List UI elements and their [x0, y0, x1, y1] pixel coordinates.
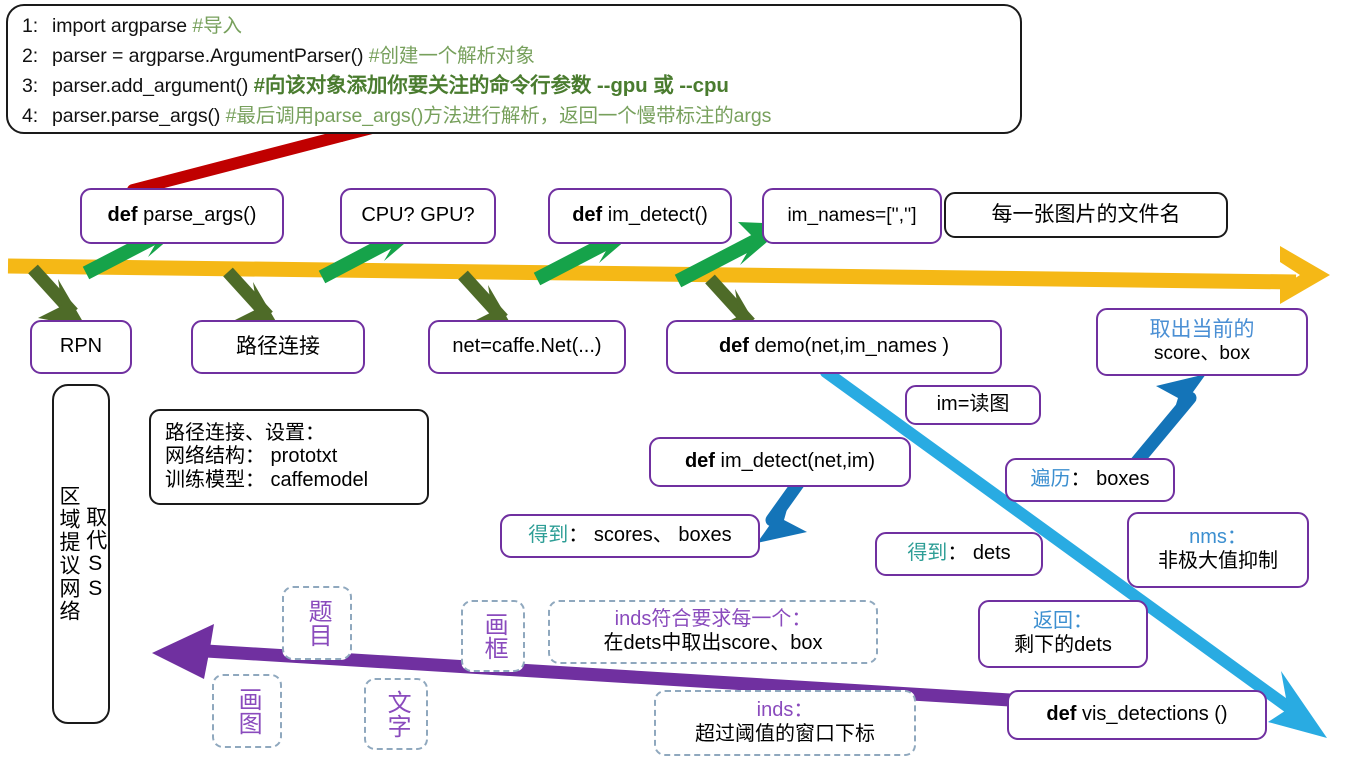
line-number: 4:	[22, 102, 52, 132]
node-vis-detections[interactable]: def vis_detections ()	[1007, 690, 1267, 740]
traverse-value: ： boxes	[1071, 468, 1150, 490]
dashed-title-label: 题目	[303, 599, 331, 647]
node-demo[interactable]: def demo(net,im_names )	[666, 320, 1002, 374]
line-number: 3:	[22, 72, 52, 102]
node-parse-args[interactable]: def parse_args()	[80, 188, 284, 244]
settings-line-1: 路径连接、设置：	[165, 422, 325, 446]
timeline-arrow-yellow	[8, 246, 1330, 304]
return-line1: 返回：	[1033, 610, 1093, 634]
node-settings-note: 路径连接、设置： 网络结构： prototxt 训练模型： caffemodel	[149, 409, 429, 505]
node-im-read[interactable]: im=读图	[905, 385, 1041, 425]
node-return-remaining-dets[interactable]: 返回： 剩下的dets	[978, 600, 1148, 668]
node-label: CPU? GPU?	[361, 204, 474, 226]
dashed-text-label: 文字	[382, 690, 410, 738]
traverse-label: 遍历	[1031, 468, 1071, 490]
settings-line-2: 网络结构： prototxt	[165, 445, 337, 469]
node-nms[interactable]: nms： 非极大值抑制	[1127, 512, 1309, 588]
return-line2: 剩下的dets	[1014, 634, 1112, 658]
node-dashed-title: 题目	[282, 586, 352, 660]
code-text: import argparse	[52, 15, 187, 37]
dashed-draw-pic-label: 画图	[233, 687, 261, 735]
code-line-3: 3:parser.add_argument() #向该对象添加你要关注的命令行参…	[22, 71, 1006, 102]
note-label: 每一张图片的文件名	[992, 203, 1181, 228]
nms-line2: 非极大值抑制	[1158, 550, 1278, 574]
rpn-expansion-line2: 取代SS	[82, 506, 107, 602]
im-read-label: im=读图	[937, 393, 1010, 417]
code-comment: #创建一个解析对象	[369, 45, 535, 67]
node-label: net=caffe.Net(...)	[452, 335, 601, 357]
node-dashed-inds-each: inds符合要求每一个： 在dets中取出score、box	[548, 600, 878, 664]
diagram-canvas: 1:import argparse #导入 2:parser = argpars…	[0, 0, 1366, 768]
node-label: im_names=['','']	[787, 205, 916, 226]
node-rpn[interactable]: RPN	[30, 320, 132, 374]
code-line-1: 1:import argparse #导入	[22, 12, 1006, 42]
node-label: 路径连接	[236, 335, 320, 358]
node-label: im_detect(net,im)	[715, 450, 875, 472]
get-label: 得到	[907, 542, 947, 564]
inds-def-line1: inds：	[757, 699, 814, 723]
keyword-def: def	[572, 204, 602, 226]
node-im-names[interactable]: im_names=['','']	[762, 188, 942, 244]
nms-line1: nms：	[1189, 526, 1247, 550]
settings-line-3: 训练模型： caffemodel	[165, 469, 368, 493]
inds-each-line1: inds符合要求每一个：	[615, 608, 812, 632]
node-dashed-draw-pic: 画图	[212, 674, 282, 748]
rpn-expansion-line1: 区域提议网络	[55, 485, 80, 623]
node-dashed-inds-def: inds： 超过阈值的窗口下标	[654, 690, 916, 756]
line-number: 2:	[22, 42, 52, 72]
node-label: demo(net,im_names )	[749, 335, 949, 357]
node-get-scores-boxes[interactable]: 得到： scores、 boxes	[500, 514, 760, 558]
node-take-current-score-box[interactable]: 取出当前的 score、box	[1096, 308, 1308, 376]
olive-down-arrowheads	[38, 279, 763, 337]
keyword-def: def	[685, 450, 715, 472]
code-line-4: 4:parser.parse_args() #最后调用parse_args()方…	[22, 102, 1006, 132]
blue-down-left-arrow	[757, 478, 807, 543]
code-comment: #最后调用parse_args()方法进行解析，返回一个慢带标注的args	[226, 105, 772, 127]
node-im-detect-net-im[interactable]: def im_detect(net,im)	[649, 437, 911, 487]
node-cpu-gpu[interactable]: CPU? GPU?	[340, 188, 496, 244]
line-number: 1:	[22, 12, 52, 42]
node-label: vis_detections ()	[1076, 703, 1227, 725]
node-im-detect[interactable]: def im_detect()	[548, 188, 732, 244]
dashed-draw-box-label: 画框	[479, 612, 507, 660]
node-label: im_detect()	[602, 204, 708, 226]
node-label: RPN	[60, 335, 102, 357]
node-get-dets[interactable]: 得到： dets	[875, 532, 1043, 576]
node-filename-note: 每一张图片的文件名	[944, 192, 1228, 238]
code-text: parser = argparse.ArgumentParser()	[52, 45, 363, 67]
keyword-def: def	[719, 335, 749, 357]
take-current-line1: 取出当前的	[1150, 318, 1255, 343]
node-dashed-text: 文字	[364, 678, 428, 750]
keyword-def: def	[108, 204, 138, 226]
code-text: parser.parse_args()	[52, 105, 220, 127]
take-current-line2: score、box	[1154, 343, 1250, 365]
code-line-2: 2:parser = argparse.ArgumentParser() #创建…	[22, 42, 1006, 72]
node-dashed-draw-box: 画框	[461, 600, 525, 672]
code-comment: #向该对象添加你要关注的命令行参数 --gpu 或 --cpu	[254, 74, 729, 97]
keyword-def: def	[1046, 703, 1076, 725]
get-label: 得到	[528, 524, 568, 546]
inds-each-line2: 在dets中取出score、box	[604, 632, 823, 656]
dark-blue-up-arrow	[1135, 374, 1206, 464]
node-label: parse_args()	[138, 204, 257, 226]
code-comment: #导入	[192, 15, 242, 37]
node-rpn-expansion: 区域提议网络 取代SS	[52, 384, 110, 724]
inds-def-line2: 超过阈值的窗口下标	[695, 723, 875, 747]
code-text: parser.add_argument()	[52, 75, 248, 97]
olive-down-arrows	[33, 269, 750, 323]
node-path-connect[interactable]: 路径连接	[191, 320, 365, 374]
get-value: ： dets	[947, 542, 1010, 564]
code-snippet-block: 1:import argparse #导入 2:parser = argpars…	[6, 4, 1022, 134]
node-net-caffe[interactable]: net=caffe.Net(...)	[428, 320, 626, 374]
get-value: ： scores、 boxes	[568, 524, 731, 546]
node-traverse-boxes[interactable]: 遍历： boxes	[1005, 458, 1175, 502]
